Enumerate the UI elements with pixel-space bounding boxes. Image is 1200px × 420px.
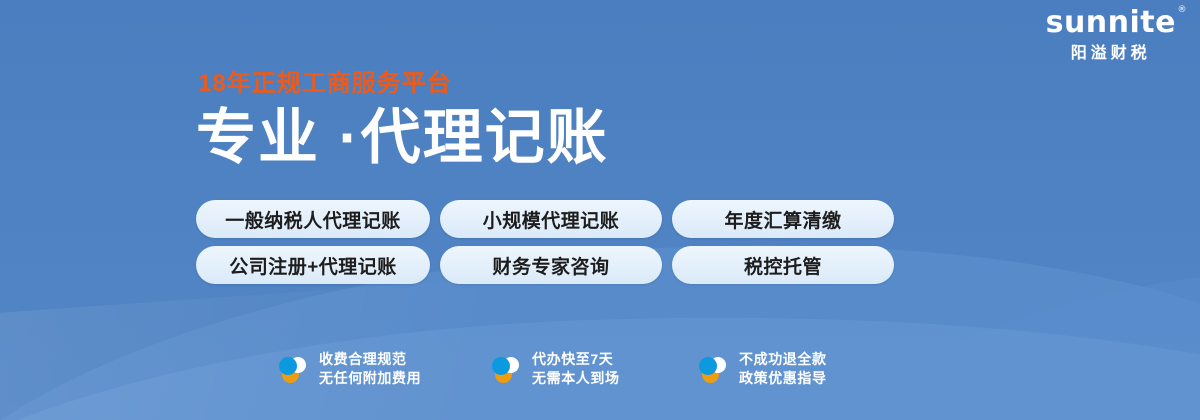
promo-banner: sunnite® 阳溢财税 18年正规工商服务平台 专业 ·代理记账 一般纳税人… bbox=[0, 0, 1200, 420]
registered-trademark-icon: ® bbox=[1178, 6, 1188, 15]
feature-line-2: 政策优惠指导 bbox=[739, 369, 867, 388]
hero-kicker: 18年正规工商服务平台 bbox=[198, 72, 609, 96]
badge-blue-dot bbox=[699, 357, 717, 375]
feature-line-1: 收费合理规范 bbox=[319, 350, 453, 369]
hero-text-block: 18年正规工商服务平台 专业 ·代理记账 bbox=[196, 72, 609, 168]
service-pill-expert-consulting[interactable]: 财务专家咨询 bbox=[440, 246, 662, 284]
feature-line-2: 无需本人到场 bbox=[532, 369, 660, 388]
feature-item-pricing: 收费合理规范 无任何附加费用 bbox=[276, 350, 453, 388]
brand-logo[interactable]: sunnite® 阳溢财税 bbox=[1046, 8, 1176, 62]
service-pill-row-2: 公司注册+代理记账 财务专家咨询 税控托管 bbox=[196, 246, 894, 284]
service-pill-group: 一般纳税人代理记账 小规模代理记账 年度汇算清缴 公司注册+代理记账 财务专家咨… bbox=[196, 200, 894, 292]
three-dot-badge-icon bbox=[276, 352, 310, 386]
feature-item-speed: 代办快至7天 无需本人到场 bbox=[489, 350, 660, 388]
service-pill-annual-settlement[interactable]: 年度汇算清缴 bbox=[672, 200, 894, 238]
feature-item-guarantee: 不成功退全款 政策优惠指导 bbox=[696, 350, 867, 388]
service-pill-company-registration[interactable]: 公司注册+代理记账 bbox=[196, 246, 430, 284]
service-pill-small-scale[interactable]: 小规模代理记账 bbox=[440, 200, 662, 238]
three-dot-badge-icon bbox=[489, 352, 523, 386]
page-title: 专业 ·代理记账 bbox=[196, 108, 609, 168]
brand-wordmark: sunnite® bbox=[1046, 8, 1176, 38]
service-pill-general-taxpayer[interactable]: 一般纳税人代理记账 bbox=[196, 200, 430, 238]
feature-line-2: 无任何附加费用 bbox=[319, 369, 453, 388]
brand-name-cn: 阳溢财税 bbox=[1046, 46, 1176, 62]
feature-text-pricing: 收费合理规范 无任何附加费用 bbox=[319, 350, 453, 388]
feature-list: 收费合理规范 无任何附加费用 代办快至7天 无需本人到场 不成功退全款 bbox=[276, 350, 867, 388]
badge-blue-dot bbox=[279, 357, 297, 375]
feature-line-1: 代办快至7天 bbox=[532, 350, 660, 369]
service-pill-row-1: 一般纳税人代理记账 小规模代理记账 年度汇算清缴 bbox=[196, 200, 894, 238]
feature-text-speed: 代办快至7天 无需本人到场 bbox=[532, 350, 660, 388]
three-dot-badge-icon bbox=[696, 352, 730, 386]
badge-blue-dot bbox=[492, 357, 510, 375]
feature-text-guarantee: 不成功退全款 政策优惠指导 bbox=[739, 350, 867, 388]
feature-line-1: 不成功退全款 bbox=[739, 350, 867, 369]
service-pill-tax-control-hosting[interactable]: 税控托管 bbox=[672, 246, 894, 284]
